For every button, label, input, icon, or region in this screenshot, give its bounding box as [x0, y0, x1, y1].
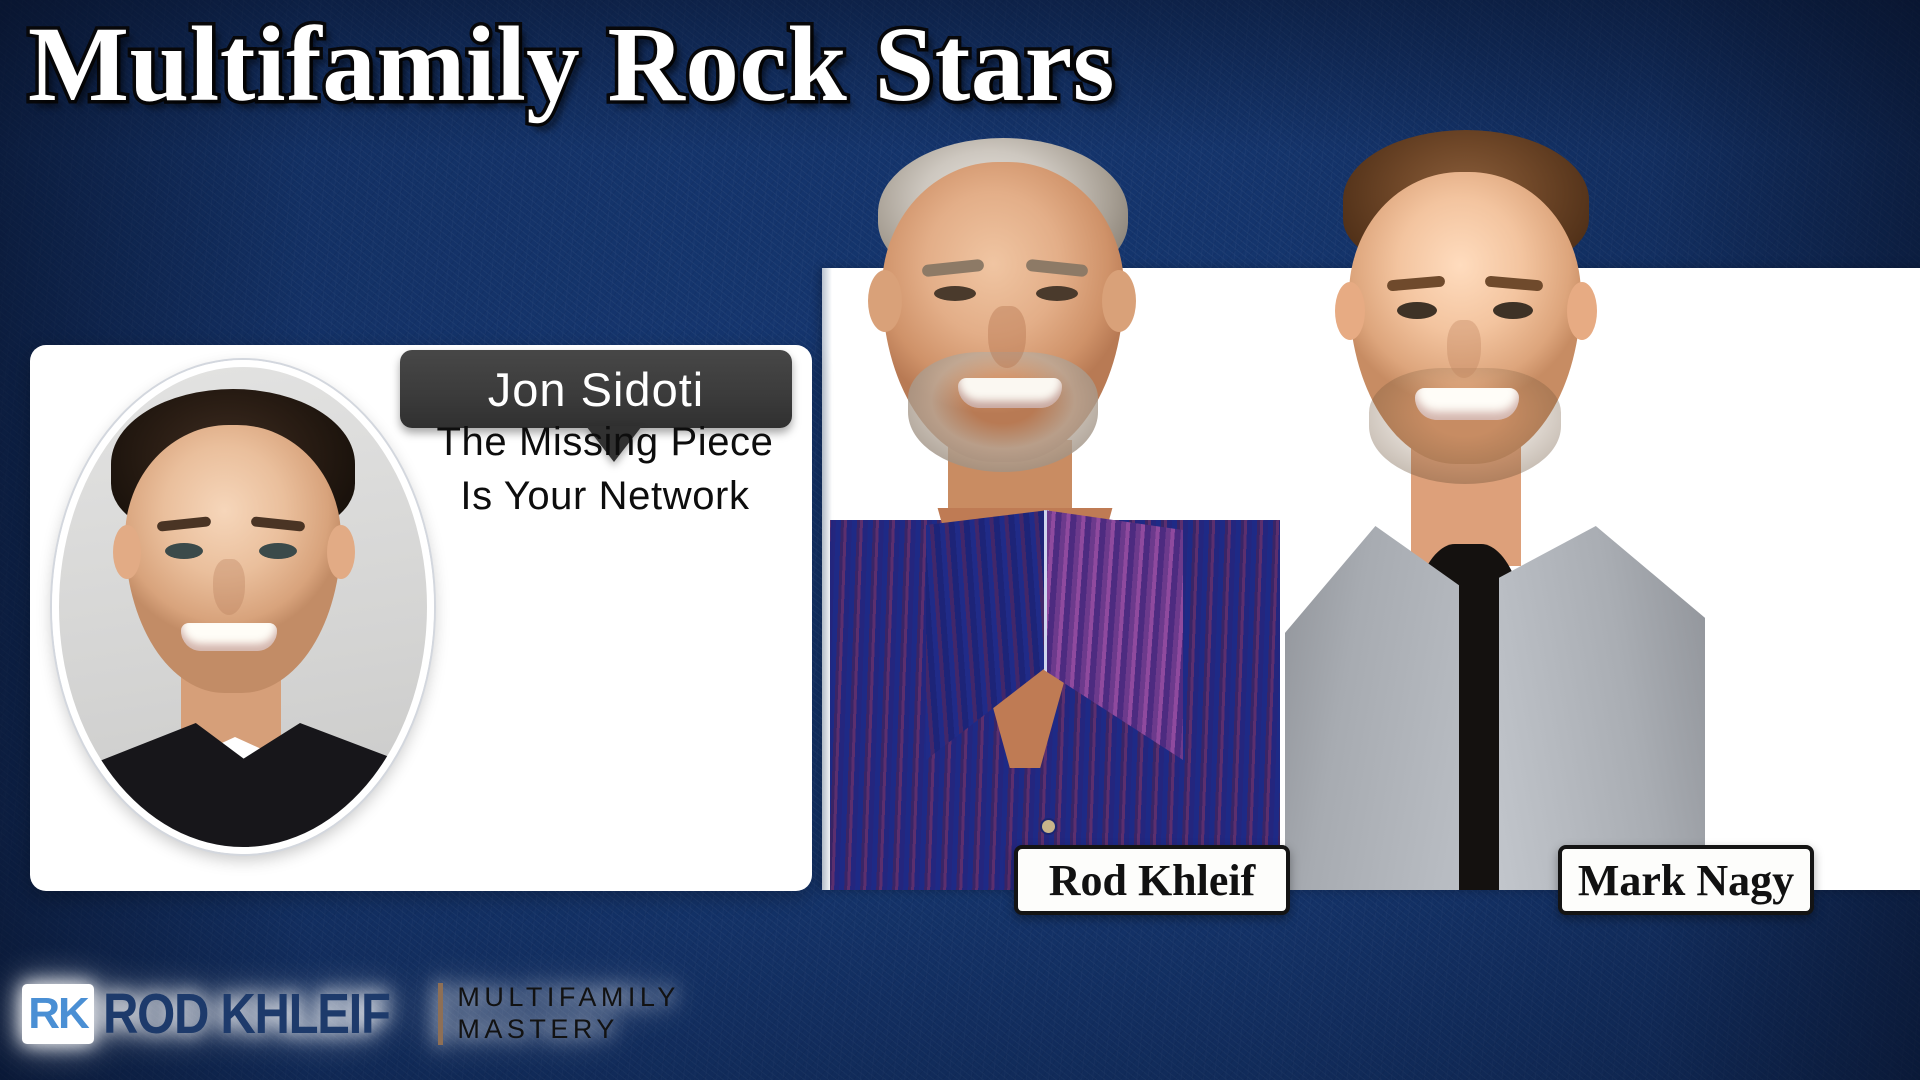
- logo-badge-label: RK: [28, 992, 88, 1036]
- rod-beard: [908, 352, 1098, 472]
- rod-ear-right: [1102, 270, 1136, 332]
- podcast-cover-art: Jon Sidoti The Missing Piece Is Your Net…: [0, 0, 1920, 1080]
- mark-stubble: [1369, 368, 1561, 484]
- jon-ear-right: [327, 525, 355, 579]
- logo-tagline: MULTIFAMILY MASTERY: [457, 982, 680, 1046]
- rod-mouth: [958, 378, 1062, 408]
- mark-mouth: [1415, 388, 1519, 420]
- rod-nose: [988, 306, 1026, 368]
- page-title: Multifamily Rock Stars: [28, 6, 1115, 126]
- logo-tagline-line2: MASTERY: [457, 1014, 680, 1046]
- mark-eye-right: [1493, 302, 1533, 319]
- jon-nose: [213, 559, 245, 615]
- rod-ear-left: [868, 270, 902, 332]
- jon-suit-left: [59, 723, 249, 854]
- rod-eye-right: [1036, 286, 1078, 301]
- jon-eye-left: [165, 543, 203, 559]
- mark-eye-left: [1397, 302, 1437, 319]
- logo-tagline-line1: MULTIFAMILY: [457, 982, 680, 1014]
- logo-badge-icon: RK: [22, 984, 94, 1044]
- mark-ear-right: [1567, 282, 1597, 340]
- episode-title: The Missing Piece Is Your Network: [430, 415, 780, 524]
- logo-brand-name: ROD KHLEIF: [103, 981, 390, 1047]
- rod-shirt-button: [1042, 820, 1055, 833]
- mark-nose: [1447, 320, 1481, 378]
- mark-nagy-photo: [1285, 130, 1705, 890]
- guest-name-label: Jon Sidoti: [488, 362, 704, 417]
- jon-mouth: [181, 623, 277, 651]
- jon-ear-left: [113, 525, 141, 579]
- brand-logo: RK ROD KHLEIF MULTIFAMILY MASTERY: [22, 975, 680, 1053]
- rod-khleif-photo: [830, 120, 1280, 890]
- host-name-label: Rod Khleif: [1049, 855, 1256, 906]
- host-nameplate-rod-khleif: Rod Khleif: [1014, 845, 1290, 915]
- rod-eye-left: [934, 286, 976, 301]
- jon-eye-right: [259, 543, 297, 559]
- logo-divider: [438, 983, 443, 1045]
- mark-jacket-right: [1499, 526, 1705, 890]
- mark-jacket-left: [1285, 526, 1459, 890]
- host-name-label: Mark Nagy: [1578, 855, 1794, 906]
- host-nameplate-mark-nagy: Mark Nagy: [1558, 845, 1814, 915]
- mark-ear-left: [1335, 282, 1365, 340]
- jon-sidoti-portrait: [52, 360, 434, 854]
